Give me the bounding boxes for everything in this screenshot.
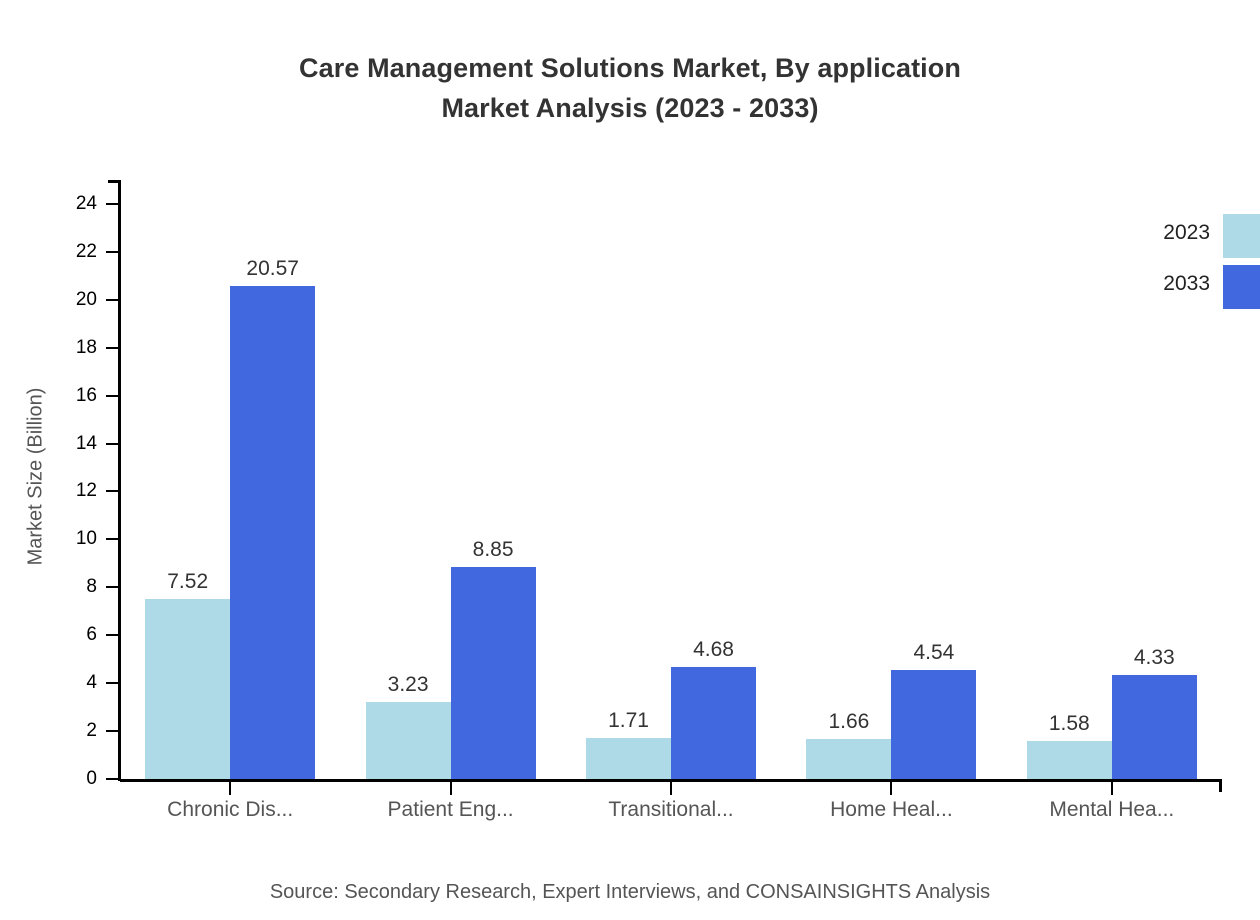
x-axis-category-label: Patient Eng... bbox=[331, 795, 571, 825]
x-axis-tick bbox=[450, 782, 452, 795]
y-axis-tick bbox=[106, 778, 120, 780]
y-axis-line bbox=[118, 180, 121, 781]
y-axis-tick bbox=[106, 299, 120, 301]
y-axis-tick-label: 20 bbox=[37, 290, 97, 309]
y-axis-tick-label: 10 bbox=[37, 529, 97, 548]
chart-title: Care Management Solutions Market, By app… bbox=[0, 48, 1260, 128]
y-axis-tick bbox=[106, 682, 120, 684]
y-axis-tick-label: 14 bbox=[37, 434, 97, 453]
y-axis-tick bbox=[106, 395, 120, 397]
y-axis-tick-label: 12 bbox=[37, 481, 97, 500]
y-axis-tick bbox=[106, 443, 120, 445]
y-axis-tick-label: 4 bbox=[37, 673, 97, 692]
legend-swatch bbox=[1223, 265, 1260, 309]
bar-chart: Care Management Solutions Market, By app… bbox=[0, 0, 1260, 920]
legend-label: 2033 bbox=[1100, 273, 1210, 295]
bar[interactable] bbox=[891, 670, 976, 779]
bar[interactable] bbox=[451, 567, 536, 779]
bar-value-label: 8.85 bbox=[423, 539, 563, 560]
y-axis-tick bbox=[106, 634, 120, 636]
bar-value-label: 4.68 bbox=[644, 639, 784, 660]
y-axis-tick-label: 0 bbox=[37, 769, 97, 788]
y-axis-tick-label: 2 bbox=[37, 721, 97, 740]
bar[interactable] bbox=[230, 286, 315, 779]
bar-value-label: 4.54 bbox=[864, 642, 1004, 663]
y-axis-tick-label: 8 bbox=[37, 577, 97, 596]
source-note: Source: Secondary Research, Expert Inter… bbox=[0, 878, 1260, 906]
y-axis-tick-label: 18 bbox=[37, 338, 97, 357]
bar[interactable] bbox=[1027, 741, 1112, 779]
bar[interactable] bbox=[366, 702, 451, 779]
y-axis-tick bbox=[106, 203, 120, 205]
y-axis-tick-label: 24 bbox=[37, 194, 97, 213]
y-axis-tick-label: 6 bbox=[37, 625, 97, 644]
y-axis-tick-label: 16 bbox=[37, 386, 97, 405]
bar[interactable] bbox=[671, 667, 756, 779]
y-axis-tick-label: 22 bbox=[37, 242, 97, 261]
x-axis-tick bbox=[890, 782, 892, 795]
bar[interactable] bbox=[1112, 675, 1197, 779]
x-axis-tick bbox=[670, 782, 672, 795]
bar[interactable] bbox=[806, 739, 891, 779]
x-axis-category-label: Home Heal... bbox=[771, 795, 1011, 825]
x-axis-tick bbox=[229, 782, 231, 795]
chart-title-line-2: Market Analysis (2023 - 2033) bbox=[0, 88, 1260, 128]
x-axis-right-cap bbox=[1219, 779, 1222, 792]
x-axis-category-label: Mental Hea... bbox=[992, 795, 1232, 825]
y-axis-tick bbox=[106, 251, 120, 253]
y-axis-tick bbox=[106, 538, 120, 540]
legend-label: 2023 bbox=[1100, 222, 1210, 244]
x-axis-tick bbox=[1111, 782, 1113, 795]
bar[interactable] bbox=[586, 738, 671, 779]
x-axis-category-label: Chronic Dis... bbox=[110, 795, 350, 825]
x-axis-category-label: Transitional... bbox=[551, 795, 791, 825]
bar-value-label: 20.57 bbox=[203, 258, 343, 279]
bar[interactable] bbox=[145, 599, 230, 779]
bar-value-label: 4.33 bbox=[1084, 647, 1224, 668]
y-axis-top-cap bbox=[108, 180, 120, 183]
y-axis-tick bbox=[106, 347, 120, 349]
chart-title-line-1: Care Management Solutions Market, By app… bbox=[0, 48, 1260, 88]
legend-swatch bbox=[1223, 214, 1260, 258]
y-axis-tick bbox=[106, 490, 120, 492]
y-axis-tick bbox=[106, 730, 120, 732]
